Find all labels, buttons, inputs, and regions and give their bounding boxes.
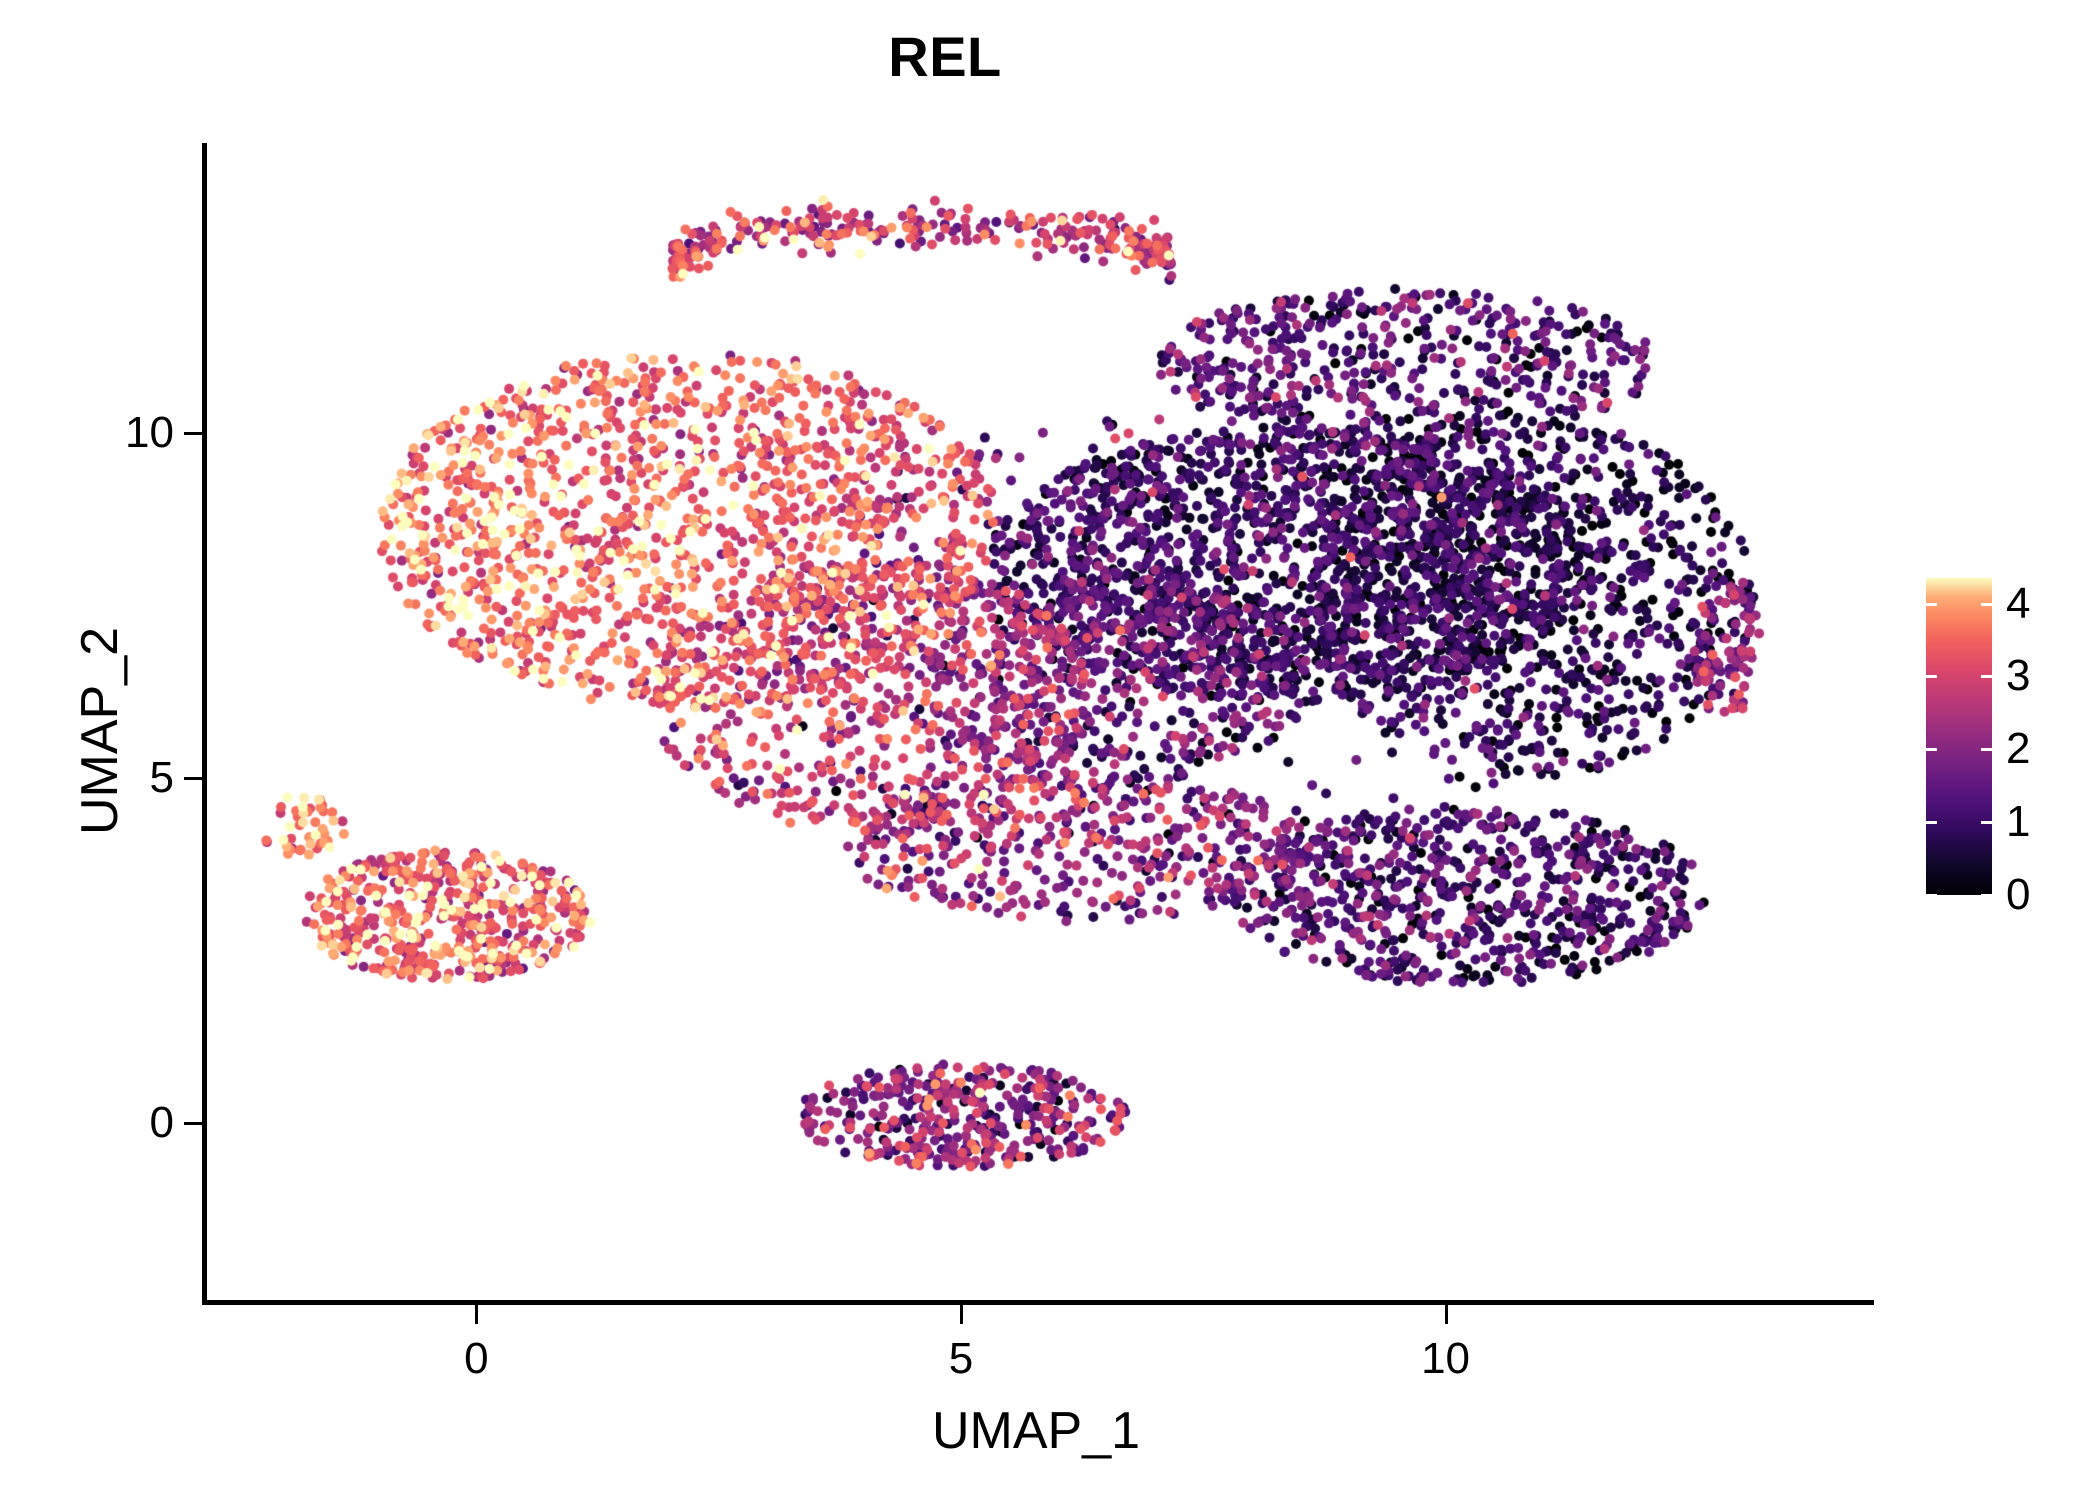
colorbar-tick-mark — [1981, 821, 1992, 824]
x-tick-mark — [475, 1305, 478, 1324]
page-title: REL — [0, 22, 1890, 92]
colorbar-tick-mark — [1981, 748, 1992, 751]
colorbar-tick-mark — [1981, 675, 1992, 678]
x-tick-label: 0 — [406, 1333, 546, 1385]
colorbar-tick-label: 4 — [2006, 578, 2030, 630]
colorbar-tick-mark — [1926, 603, 1937, 606]
colorbar-gradient — [1926, 578, 1992, 895]
chart-root: REL 0510 0510 UMAP_1 UMAP_2 01234 — [0, 0, 2100, 1500]
x-axis-line — [202, 1300, 1874, 1305]
colorbar-tick-mark — [1926, 675, 1937, 678]
colorbar-tick-mark — [1981, 603, 1992, 606]
x-tick-mark — [960, 1305, 963, 1324]
colorbar-legend[interactable]: 01234 — [1926, 578, 2096, 898]
colorbar-tick-label: 0 — [2006, 869, 2030, 921]
scatter-points-canvas — [205, 143, 1872, 1302]
y-axis-line — [202, 143, 207, 1305]
y-axis-title: UMAP_2 — [69, 151, 131, 1311]
x-tick-label: 5 — [891, 1333, 1031, 1385]
y-tick-mark — [184, 777, 203, 780]
y-tick-mark — [184, 432, 203, 435]
y-tick-mark — [184, 1122, 203, 1125]
colorbar-tick-label: 2 — [2006, 723, 2030, 775]
colorbar-tick-mark — [1926, 821, 1937, 824]
x-axis-title: UMAP_1 — [0, 1400, 2072, 1462]
colorbar-tick-mark — [1981, 894, 1992, 897]
colorbar-tick-label: 3 — [2006, 650, 2030, 702]
x-tick-mark — [1445, 1305, 1448, 1324]
x-tick-label: 10 — [1376, 1333, 1516, 1385]
plot-panel — [205, 143, 1872, 1302]
colorbar-tick-mark — [1926, 748, 1937, 751]
colorbar-tick-mark — [1926, 894, 1937, 897]
colorbar-tick-label: 1 — [2006, 796, 2030, 848]
